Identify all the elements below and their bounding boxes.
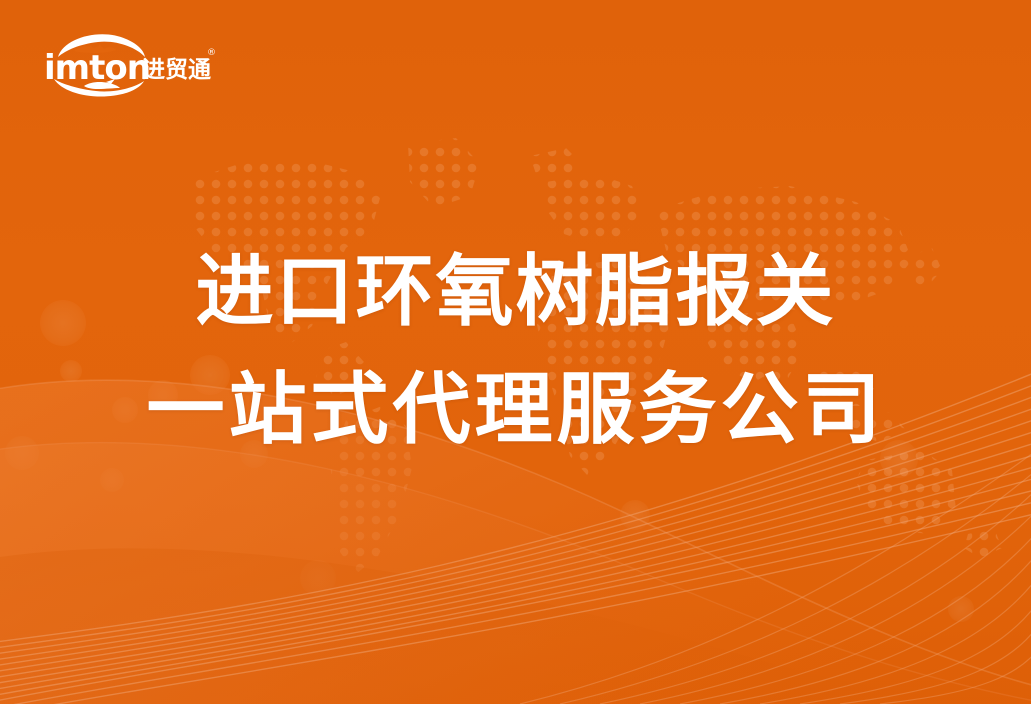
brand-logo[interactable]: imton 进贸通 ® [44, 31, 216, 101]
headline-line-1: 进口环氧树脂报关 [0, 253, 1031, 331]
headline: 进口环氧树脂报关 一站式代理服务公司 [0, 253, 1031, 449]
logo-chinese-name: 进贸通 [142, 57, 211, 83]
promo-banner: imton 进贸通 ® 进口环氧树脂报关 一站式代理服务公司 [0, 0, 1031, 704]
headline-line-2: 一站式代理服务公司 [0, 371, 1031, 449]
trademark-symbol: ® [207, 48, 216, 58]
logo-wordmark: imton [44, 48, 150, 88]
logo-svg: imton 进贸通 ® [44, 31, 216, 101]
